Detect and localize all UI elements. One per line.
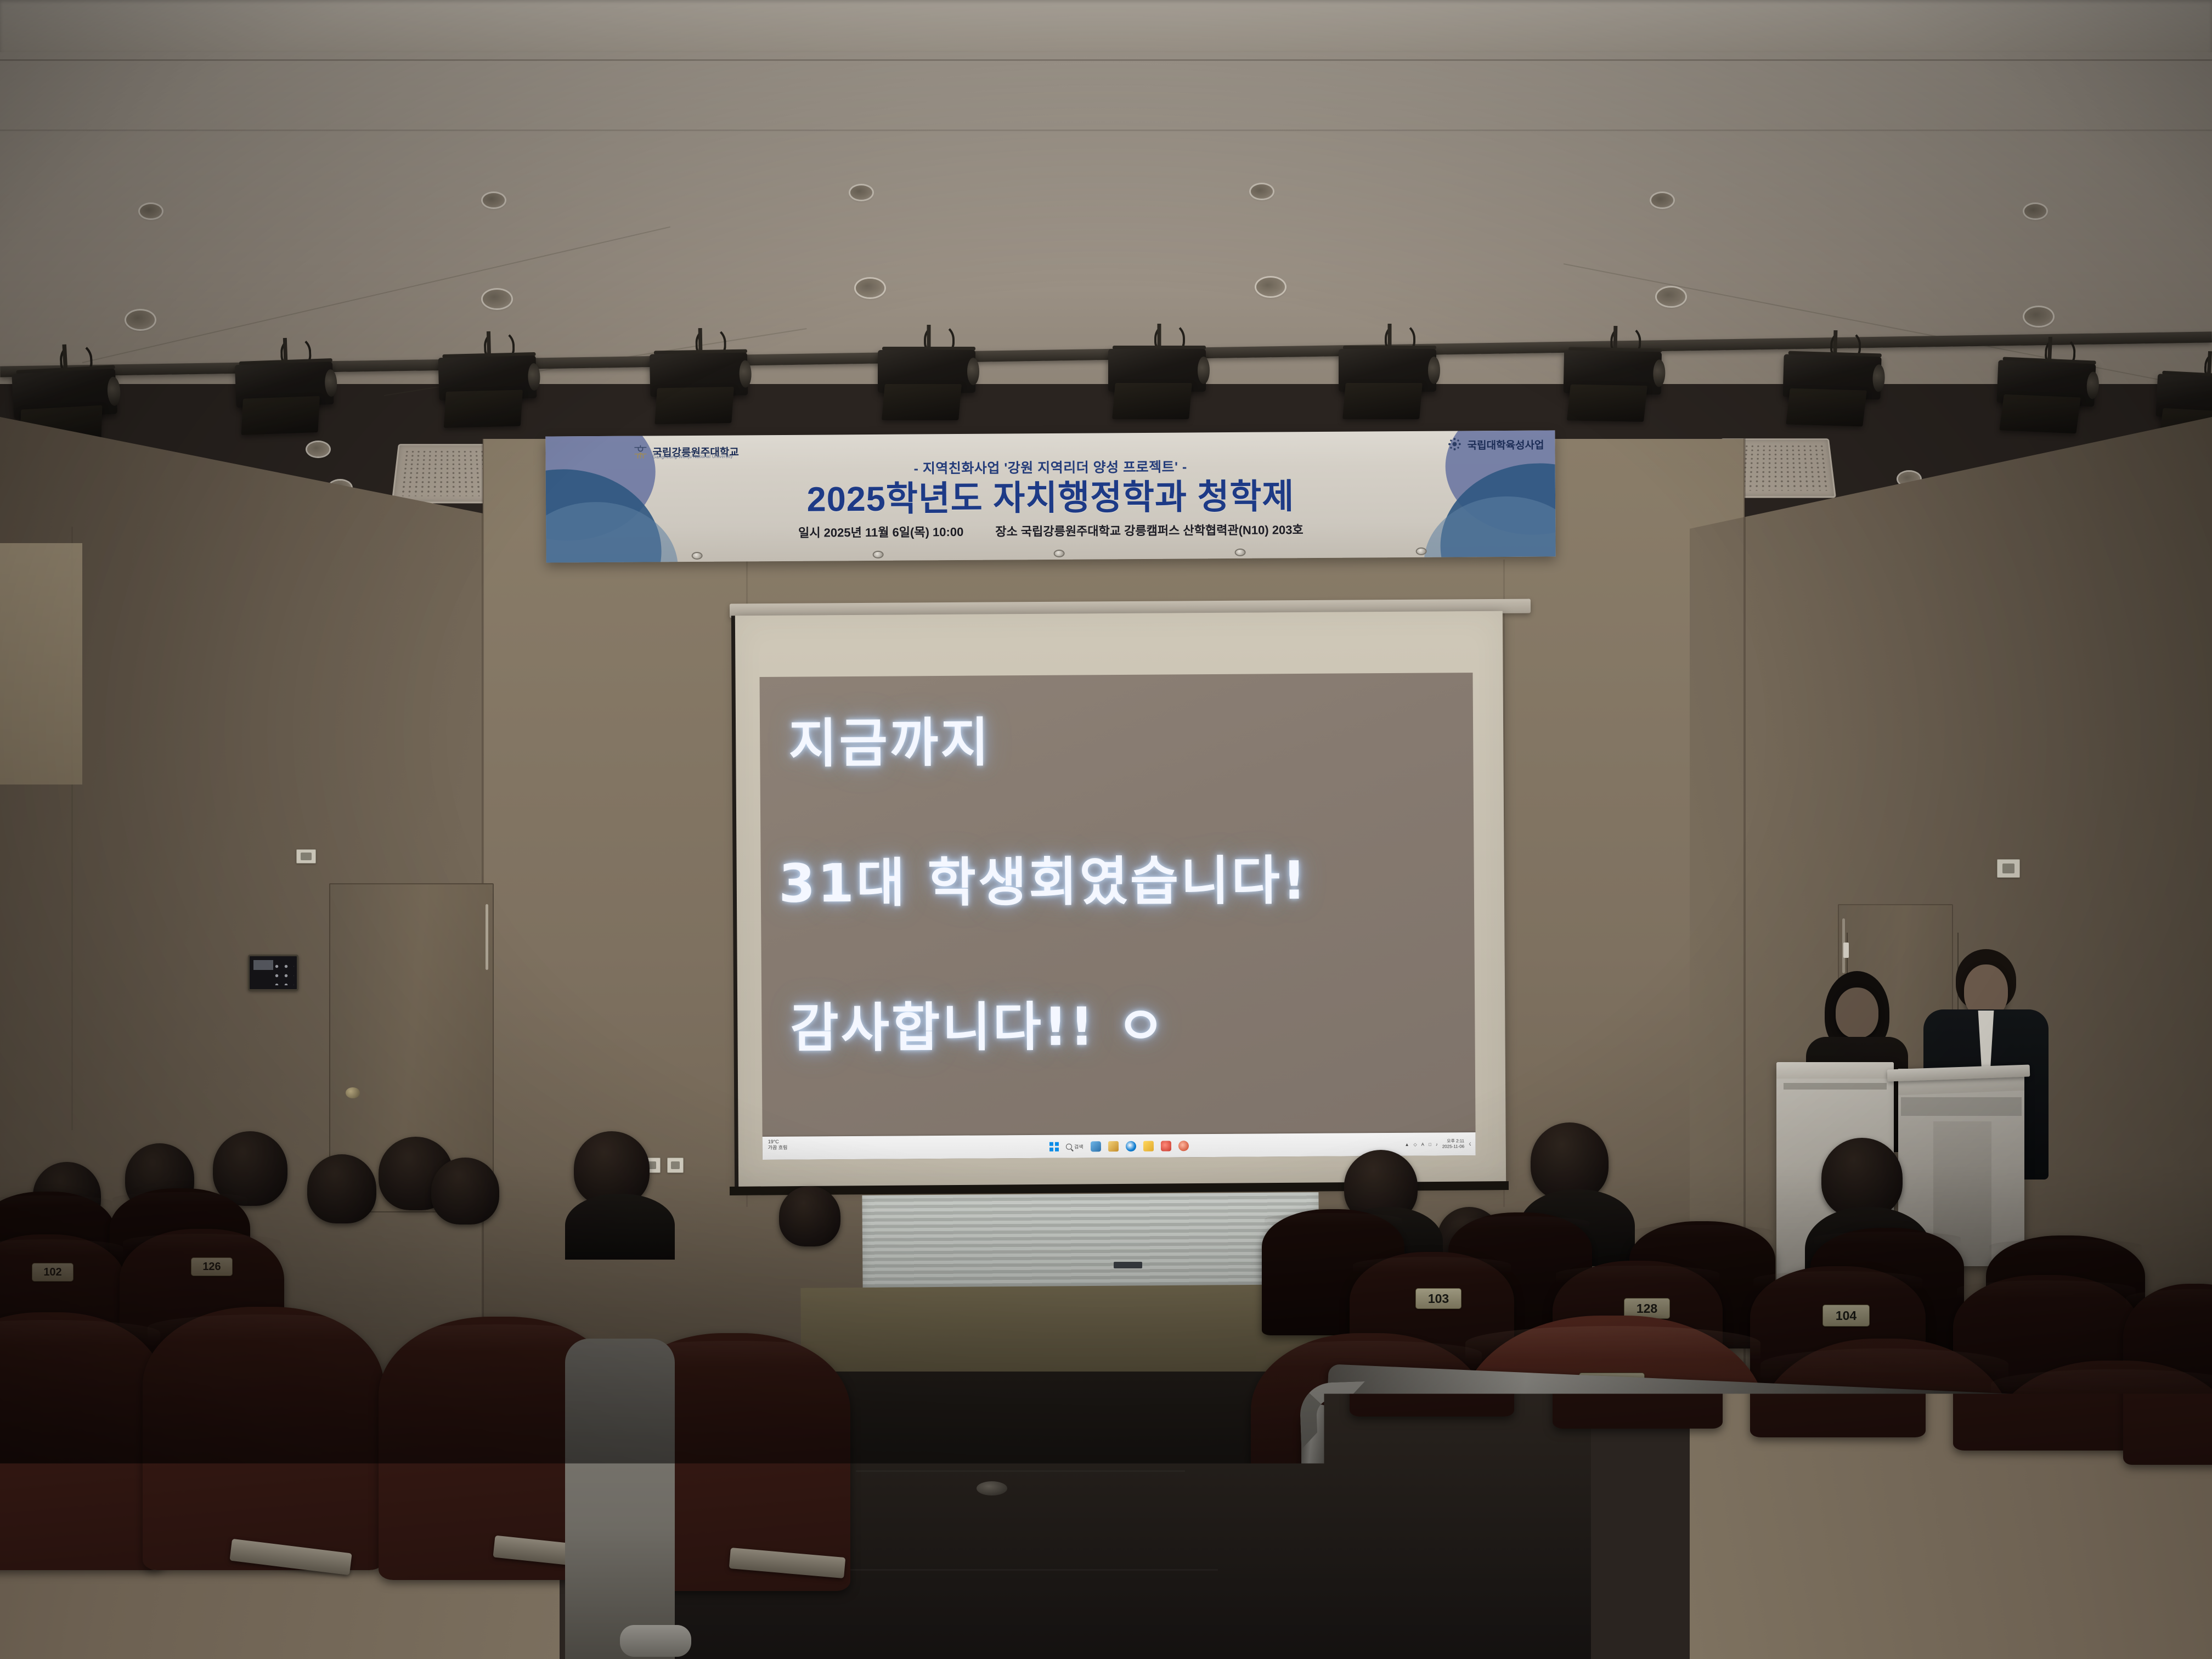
stage-spotlight bbox=[650, 352, 752, 420]
banner-title: 2025학년도 자치행정학과 청학제 bbox=[806, 478, 1294, 518]
downlight-icon bbox=[2024, 204, 2046, 218]
audience-head bbox=[779, 1186, 840, 1246]
audience-head bbox=[1531, 1122, 1609, 1200]
folder-icon[interactable] bbox=[1143, 1141, 1153, 1151]
ceiling bbox=[0, 0, 2212, 384]
door-edge bbox=[486, 904, 488, 970]
audience-head bbox=[307, 1154, 376, 1223]
downlight-icon bbox=[1657, 287, 1685, 306]
powerpoint-icon[interactable] bbox=[1178, 1141, 1188, 1151]
stage-spotlight bbox=[1996, 360, 2100, 430]
downlight-icon bbox=[483, 290, 511, 308]
wall-switch-plate-right[interactable] bbox=[1997, 859, 2020, 878]
weather-condition: 가끔 흐림 bbox=[768, 1145, 788, 1151]
slide-line-3: 감사합니다!! ㅇ bbox=[790, 984, 1167, 1062]
clock-time: 오후 2:11 bbox=[1442, 1139, 1464, 1144]
banner-subtitle: - 지역친화사업 '강원 지역리더 양성 프로젝트' - bbox=[913, 456, 1187, 477]
banner-date: 일시 2025년 11월 6일(목) 10:00 bbox=[798, 522, 963, 541]
audience-person-standing bbox=[565, 1339, 675, 1659]
slide-line-1: 지금까지 bbox=[788, 699, 991, 777]
battery-icon[interactable]: □ bbox=[1429, 1142, 1431, 1147]
projected-slide: 지금까지 31대 학생회였습니다! 감사합니다!! ㅇ 19°C 가끔 흐림 검… bbox=[760, 673, 1476, 1160]
audience-head bbox=[431, 1158, 499, 1224]
stage-spotlight bbox=[1563, 350, 1666, 417]
banner-place: 장소 국립강릉원주대학교 강릉캠퍼스 산학협력관(N10) 203호 bbox=[995, 520, 1304, 539]
ceiling-soffit bbox=[0, 0, 2212, 52]
wire-tag bbox=[1843, 943, 1849, 958]
seat-number-plaque: 104 bbox=[1822, 1305, 1870, 1327]
downlight-icon bbox=[1256, 278, 1285, 296]
downlight-icon bbox=[850, 185, 872, 200]
network-icon[interactable]: ◇ bbox=[1413, 1142, 1417, 1147]
slide-line-2: 31대 학생회였습니다! bbox=[778, 838, 1308, 917]
seat-127[interactable] bbox=[1459, 1316, 1767, 1659]
clock-date: 2025-11-06 bbox=[1442, 1144, 1464, 1149]
seat-number-plaque: 126 bbox=[191, 1257, 233, 1276]
stage-louver-panel bbox=[862, 1192, 1319, 1290]
downlight-icon bbox=[2024, 307, 2053, 326]
door-knob-icon[interactable] bbox=[346, 1087, 360, 1098]
seat-number-plaque: 103 bbox=[1415, 1288, 1462, 1309]
stage-louver-label bbox=[1114, 1262, 1142, 1268]
banner-grommet bbox=[1054, 550, 1065, 557]
audience-head bbox=[1821, 1138, 1903, 1218]
event-banner: 국립강릉원주대학교 Gangneung-Wonju National Unive… bbox=[545, 430, 1555, 562]
start-icon[interactable] bbox=[1049, 1142, 1059, 1151]
downlight-icon bbox=[1651, 193, 1673, 207]
downlight-icon bbox=[856, 279, 884, 297]
ime-icon[interactable]: A bbox=[1421, 1142, 1424, 1147]
floor-seam bbox=[856, 1470, 1185, 1472]
taskbar-clock[interactable]: 오후 2:11 2025-11-06 bbox=[1442, 1139, 1464, 1149]
widgets-icon[interactable] bbox=[1090, 1141, 1101, 1152]
taskbar-weather-widget[interactable]: 19°C 가끔 흐림 bbox=[768, 1139, 788, 1152]
downlight-icon bbox=[483, 193, 505, 207]
stage-spotlight bbox=[1339, 349, 1440, 415]
seat-number-plaque: 102 bbox=[32, 1263, 74, 1282]
auditorium-photo: 국립강릉원주대학교 Gangneung-Wonju National Unive… bbox=[0, 0, 2212, 1659]
seat[interactable] bbox=[143, 1307, 384, 1570]
stage-spotlight bbox=[235, 362, 338, 431]
stage-spotlight bbox=[878, 350, 979, 416]
wall-switch-plate[interactable] bbox=[296, 849, 316, 864]
floor-drain-icon bbox=[977, 1481, 1007, 1496]
wall-outlet-plate[interactable] bbox=[667, 1158, 684, 1173]
ceiling-seam bbox=[0, 129, 2212, 131]
volume-icon[interactable]: ♪ bbox=[1436, 1142, 1438, 1147]
banner-grommet bbox=[1235, 549, 1246, 556]
audience-shoe bbox=[620, 1625, 691, 1657]
file-explorer-icon[interactable] bbox=[1108, 1141, 1118, 1152]
banner-grommet bbox=[1416, 548, 1427, 555]
weather-temp: 19°C bbox=[768, 1139, 788, 1145]
banner-grommet bbox=[873, 551, 884, 558]
audience-shoulders bbox=[565, 1194, 675, 1260]
wall-panel-left bbox=[0, 543, 82, 785]
downlight-icon bbox=[140, 204, 162, 218]
notification-icon[interactable]: ☇ bbox=[1469, 1142, 1471, 1147]
floor-seam bbox=[823, 1569, 1218, 1571]
taskbar-search-label: 검색 bbox=[1074, 1143, 1084, 1150]
banner-grommet bbox=[692, 552, 703, 560]
search-icon[interactable]: 검색 bbox=[1066, 1143, 1084, 1150]
edge-browser-icon[interactable] bbox=[1125, 1141, 1136, 1151]
downlight-icon bbox=[1251, 184, 1273, 199]
wall-control-panel[interactable] bbox=[248, 955, 298, 991]
chevron-up-icon[interactable]: ▲ bbox=[1405, 1142, 1409, 1147]
downlight-icon bbox=[126, 311, 155, 329]
seat[interactable] bbox=[0, 1312, 165, 1570]
projection-screen: 지금까지 31대 학생회였습니다! 감사합니다!! ㅇ 19°C 가끔 흐림 검… bbox=[735, 611, 1506, 1189]
stage-spotlight bbox=[1782, 354, 1885, 422]
stage-spotlight bbox=[1108, 349, 1210, 415]
downlight-icon bbox=[307, 442, 329, 456]
app-red-icon[interactable] bbox=[1160, 1141, 1171, 1151]
ceiling-seam bbox=[0, 59, 2212, 61]
stage-spotlight bbox=[438, 356, 541, 424]
